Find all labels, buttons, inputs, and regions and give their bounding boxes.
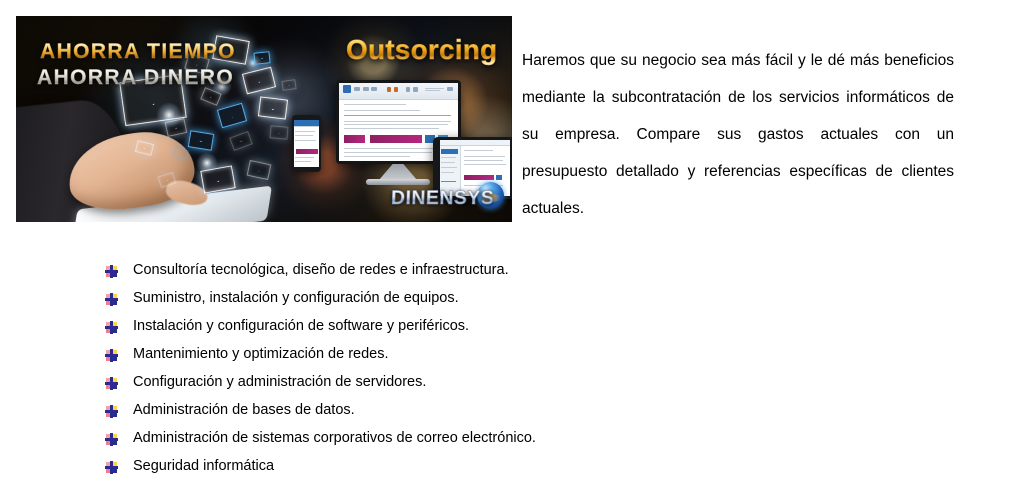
envelope-icon-blue (253, 51, 270, 65)
envelope-icon (258, 96, 288, 119)
list-item-label: Instalación y configuración de software … (133, 316, 469, 336)
list-item: Configuración y administración de servid… (106, 372, 806, 400)
arrow-bullet-icon (106, 434, 117, 445)
list-item-label: Mantenimiento y optimización de redes. (133, 344, 389, 364)
list-item: Mantenimiento y optimización de redes. (106, 344, 806, 372)
arrow-bullet-icon (106, 378, 117, 389)
smartphone-screen (294, 120, 319, 167)
list-item-label: Suministro, instalación y configuración … (133, 288, 459, 308)
banner-slogan-line-2: AHORRA DINERO (37, 66, 234, 90)
dinensys-logo: DINENSYS (392, 184, 504, 214)
arrow-bullet-icon (106, 350, 117, 361)
tablet-ad-thumbnail (496, 175, 502, 180)
list-item: Seguridad informática (106, 456, 806, 484)
list-item-label: Configuración y administración de servid… (133, 372, 426, 392)
list-item-label: Administración de bases de datos. (133, 400, 355, 420)
envelope-icon-blue (188, 130, 214, 151)
list-item: Consultoría tecnológica, diseño de redes… (106, 260, 806, 288)
services-list: Consultoría tecnológica, diseño de redes… (106, 260, 806, 484)
email-client-ribbon (339, 83, 458, 100)
list-item: Instalación y configuración de software … (106, 316, 806, 344)
dinensys-logo-text: DINENSYS (390, 188, 494, 210)
list-item-label: Administración de sistemas corporativos … (133, 428, 536, 448)
list-item: Administración de sistemas corporativos … (106, 428, 806, 456)
banner-slogan-line-1: AHORRA TIEMPO (40, 40, 236, 64)
arrow-bullet-icon (106, 406, 117, 417)
smartphone-device (292, 115, 321, 172)
arrow-bullet-icon (106, 462, 117, 473)
email-ad-banner (370, 135, 422, 142)
intro-paragraph: Haremos que su negocio sea más fácil y l… (522, 42, 954, 227)
arrow-bullet-icon (106, 266, 117, 277)
phone-banner-ad (296, 149, 318, 154)
outsourcing-banner: AHORRA TIEMPO AHORRA DINERO Outsorcing D… (16, 16, 512, 222)
list-item: Suministro, instalación y configuración … (106, 288, 806, 316)
phone-app-header (294, 120, 319, 127)
envelope-icon (281, 79, 296, 91)
banner-title: Outsorcing (346, 34, 497, 66)
arrow-bullet-icon (106, 294, 117, 305)
tablet-ad-banner (464, 175, 494, 180)
phone-app-body (294, 127, 319, 167)
list-item: Administración de bases de datos. (106, 400, 806, 428)
email-ad-banner (344, 135, 365, 142)
envelope-icon (269, 125, 288, 140)
list-item-label: Seguridad informática (133, 456, 274, 476)
arrow-bullet-icon (106, 322, 117, 333)
list-item-label: Consultoría tecnológica, diseño de redes… (133, 260, 509, 280)
